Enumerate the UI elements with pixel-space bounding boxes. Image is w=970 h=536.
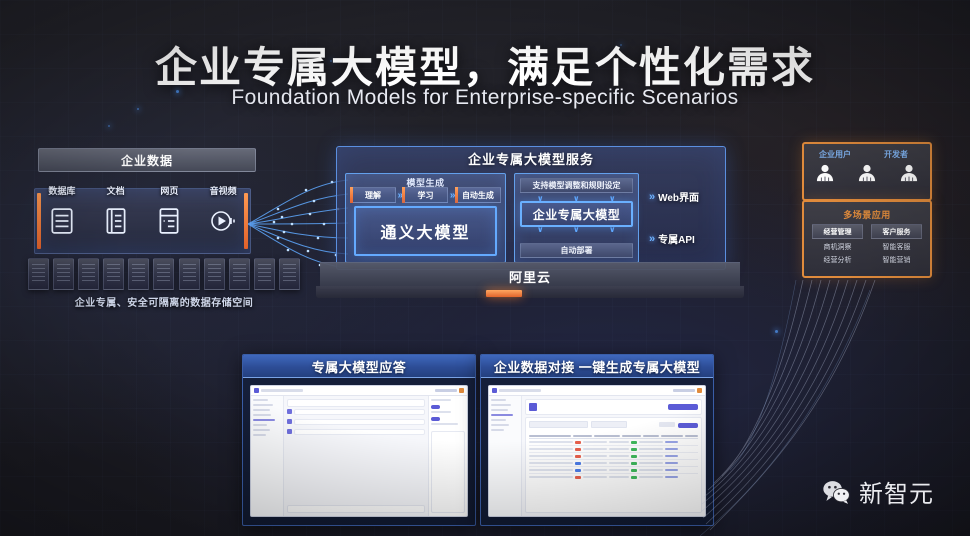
topbar-title xyxy=(499,389,541,392)
row-action[interactable] xyxy=(665,476,679,478)
database-icon xyxy=(49,207,75,235)
table-row[interactable] xyxy=(529,474,698,480)
settings-sidebar xyxy=(428,396,467,516)
sidebar-item-active xyxy=(253,419,275,421)
sidebar-item-active xyxy=(491,414,513,416)
status-badge xyxy=(631,448,637,451)
output-dedicated-api[interactable]: » 专属API xyxy=(649,231,695,246)
primary-action-button[interactable] xyxy=(668,404,698,410)
status-badge xyxy=(631,476,637,479)
watermark-text: 新智元 xyxy=(859,474,934,509)
secondary-button[interactable] xyxy=(659,422,675,427)
topbar-action xyxy=(673,389,695,392)
sidebar-item xyxy=(253,424,267,426)
list-item: 商机洞察 智能客服 xyxy=(812,242,922,252)
status-badge xyxy=(631,455,637,458)
status-badge xyxy=(631,469,637,472)
chat-message xyxy=(287,409,425,415)
column-header xyxy=(573,435,592,437)
sidebar-item xyxy=(491,419,506,421)
data-source-label: 网页 xyxy=(160,184,178,197)
enterprise-data-caption: 企业专属、安全可隔离的数据存储空间 xyxy=(28,294,300,309)
screenshot-sidebar xyxy=(251,396,284,516)
model-service-header: 企业专属大模型服务 xyxy=(337,147,725,169)
topbar-action xyxy=(435,389,457,392)
chevron-right-icon: » xyxy=(649,233,653,245)
status-badge xyxy=(631,441,637,444)
sidebar-item xyxy=(491,399,506,401)
row-action[interactable] xyxy=(665,441,679,443)
screenshot-sidebar xyxy=(489,396,522,516)
setting-label xyxy=(431,399,451,401)
table-row[interactable] xyxy=(529,446,698,453)
server-unit xyxy=(103,258,124,290)
server-rack-row xyxy=(28,256,300,290)
category-customer-service[interactable]: 客户服务 xyxy=(871,224,922,239)
message-bubble xyxy=(294,429,425,435)
data-table-area xyxy=(522,396,705,516)
server-unit xyxy=(229,258,250,290)
app-item[interactable]: 智能客服 xyxy=(871,242,922,252)
sidebar-item xyxy=(253,404,273,406)
enterprise-data-header: 企业数据 xyxy=(38,148,256,172)
app-item[interactable]: 智能营销 xyxy=(871,255,922,265)
sidebar-item xyxy=(491,424,509,426)
server-unit xyxy=(128,258,149,290)
wechat-icon xyxy=(822,479,852,505)
chevron-down-icon: ∨ xyxy=(573,225,580,234)
document-icon xyxy=(103,207,129,235)
applications-box: 多场景应用 经营管理 客户服务 商机洞察 智能客服 经营分析 智能营销 xyxy=(802,200,932,278)
table-row[interactable] xyxy=(529,439,698,446)
settings-textarea[interactable] xyxy=(431,431,465,513)
page-subtitle: Foundation Models for Enterprise-specifi… xyxy=(0,86,970,110)
status-badge xyxy=(575,476,581,479)
sidebar-item xyxy=(491,409,508,411)
enterprise-data-panel: 企业数据 数据库 文档 xyxy=(28,148,308,313)
status-badge xyxy=(575,448,581,451)
setting-label xyxy=(431,411,451,413)
chevron-down-icon: ∨ xyxy=(537,225,544,234)
sidebar-item xyxy=(253,409,270,411)
avatar xyxy=(287,429,292,434)
data-source-label: 数据库 xyxy=(48,184,75,197)
sidebar-item xyxy=(253,414,271,416)
app-logo-icon xyxy=(492,388,497,393)
step-pill-understand[interactable]: 理解 xyxy=(350,187,396,203)
column-header xyxy=(529,435,571,437)
generation-step-pills: 理解 » 学习 » 自动生成 xyxy=(350,187,501,203)
category-operations[interactable]: 经营管理 xyxy=(812,224,863,239)
card-title: 专属大模型应答 xyxy=(243,355,475,378)
avatar xyxy=(287,419,292,424)
row-action[interactable] xyxy=(665,448,679,450)
application-categories: 经营管理 客户服务 xyxy=(812,224,922,239)
server-unit xyxy=(179,258,200,290)
add-button[interactable] xyxy=(678,423,698,428)
page-icon xyxy=(529,403,537,411)
data-source-rack: 数据库 文档 网页 xyxy=(34,188,251,254)
chevron-down-icon: ∨ xyxy=(609,225,616,234)
status-badge xyxy=(575,455,581,458)
enterprise-model-group: 支持模型调整和规则设定 ∨ ∨ ∨ 企业专属大模型 ∨ ∨ ∨ 自动部署 xyxy=(514,173,639,263)
application-list: 商机洞察 智能客服 经营分析 智能营销 xyxy=(812,242,922,268)
auto-deploy-bar: 自动部署 xyxy=(520,243,633,258)
webpage-icon xyxy=(156,207,182,235)
output-label: 专属API xyxy=(658,231,695,246)
data-source-label: 音视频 xyxy=(210,184,237,197)
data-source-label: 文档 xyxy=(107,184,125,197)
enterprise-model-box[interactable]: 企业专属大模型 xyxy=(520,201,633,227)
chat-message xyxy=(287,429,425,435)
avatar xyxy=(459,388,464,393)
user-label-developer: 开发者 xyxy=(866,149,926,160)
user-icon-row xyxy=(804,164,930,182)
toggle-switch[interactable] xyxy=(431,405,440,409)
status-badge xyxy=(631,462,637,465)
table-row[interactable] xyxy=(529,460,698,467)
search-input[interactable] xyxy=(529,421,588,428)
data-source-item[interactable]: 数据库 xyxy=(42,198,82,244)
table-row[interactable] xyxy=(529,467,698,474)
server-unit xyxy=(204,258,225,290)
user-group-icon xyxy=(857,164,877,182)
sidebar-item xyxy=(491,404,511,406)
sidebar-item xyxy=(491,429,504,431)
column-header xyxy=(685,435,698,437)
row-action[interactable] xyxy=(665,455,679,457)
bg-dot xyxy=(108,125,110,127)
server-unit xyxy=(254,258,275,290)
output-label: Web界面 xyxy=(658,189,699,204)
row-action[interactable] xyxy=(665,469,679,471)
model-service-panel: 企业专属大模型服务 模型生成 理解 » 学习 » 自动生成 通义大模型 支持模型… xyxy=(336,146,726,270)
chevron-right-icon: » xyxy=(649,191,653,203)
user-label-enterprise: 企业用户 xyxy=(804,149,866,160)
app-item[interactable]: 经营分析 xyxy=(812,255,863,265)
data-management-screenshot xyxy=(488,385,706,517)
server-unit xyxy=(78,258,99,290)
data-source-item[interactable]: 音视频 xyxy=(203,198,243,244)
status-badge xyxy=(575,462,581,465)
message-bubble xyxy=(294,419,425,425)
watermark: 新智元 xyxy=(822,474,934,509)
chat-area xyxy=(284,396,428,516)
model-tuning-bar: 支持模型调整和规则设定 xyxy=(520,178,633,193)
server-unit xyxy=(28,258,49,290)
chat-console-screenshot xyxy=(250,385,468,517)
feature-card-chat[interactable]: 专属大模型应答 xyxy=(242,354,476,526)
page-header-card xyxy=(525,399,702,415)
platform-base-plate xyxy=(316,286,744,298)
model-generation-group: 模型生成 理解 » 学习 » 自动生成 通义大模型 xyxy=(345,173,506,263)
filter-select[interactable] xyxy=(591,421,627,428)
column-header xyxy=(643,435,659,437)
card-title: 企业数据对接 一键生成专属大模型 xyxy=(481,355,713,378)
status-badge xyxy=(575,469,581,472)
slide-canvas: 企业专属大模型，满足个性化需求 Foundation Models for En… xyxy=(0,0,970,536)
table-row[interactable] xyxy=(529,453,698,460)
chat-message xyxy=(287,419,425,425)
server-unit xyxy=(53,258,74,290)
setting-label xyxy=(431,423,458,425)
chevron-right-icon: » xyxy=(397,190,401,201)
screenshot-topbar xyxy=(251,386,467,396)
column-header xyxy=(622,435,641,437)
column-header xyxy=(594,435,620,437)
server-unit xyxy=(153,258,174,290)
user-group-icon xyxy=(815,164,835,182)
chat-input-box[interactable] xyxy=(287,505,425,513)
platform-accent-tab xyxy=(486,290,522,297)
feature-card-data[interactable]: 企业数据对接 一键生成专属大模型 xyxy=(480,354,714,526)
step-pill-learn[interactable]: 学习 xyxy=(402,187,448,203)
chat-header-card xyxy=(287,399,425,407)
sidebar-item xyxy=(253,434,266,436)
media-play-icon xyxy=(210,207,236,235)
service-outputs: » Web界面 » 专属API xyxy=(647,173,717,263)
sidebar-item xyxy=(253,399,268,401)
list-item: 经营分析 智能营销 xyxy=(812,255,922,265)
message-bubble xyxy=(294,409,425,415)
server-unit xyxy=(279,258,300,290)
user-group-icon xyxy=(899,164,919,182)
chevron-right-icon: » xyxy=(450,190,454,201)
user-type-labels: 企业用户 开发者 xyxy=(804,149,930,160)
screenshot-topbar xyxy=(489,386,705,396)
app-logo-icon xyxy=(254,388,259,393)
column-header xyxy=(661,435,683,437)
tongyi-model-box[interactable]: 通义大模型 xyxy=(354,206,497,256)
bg-dot xyxy=(775,330,778,333)
applications-title: 多场景应用 xyxy=(804,208,930,221)
data-table-card xyxy=(525,417,702,513)
avatar xyxy=(287,409,292,414)
sidebar-item xyxy=(253,429,270,431)
output-web-interface[interactable]: » Web界面 xyxy=(649,189,699,204)
row-action[interactable] xyxy=(665,462,679,464)
data-source-item[interactable]: 网页 xyxy=(149,198,189,244)
topbar-title xyxy=(261,389,303,392)
app-item[interactable]: 商机洞察 xyxy=(812,242,863,252)
aliyun-platform-bar: 阿里云 xyxy=(320,262,740,289)
toggle-switch[interactable] xyxy=(431,417,440,421)
users-box: 企业用户 开发者 xyxy=(802,142,932,201)
data-source-item[interactable]: 文档 xyxy=(96,198,136,244)
step-pill-autogenerate[interactable]: 自动生成 xyxy=(455,187,501,203)
avatar xyxy=(697,388,702,393)
status-badge xyxy=(575,441,581,444)
